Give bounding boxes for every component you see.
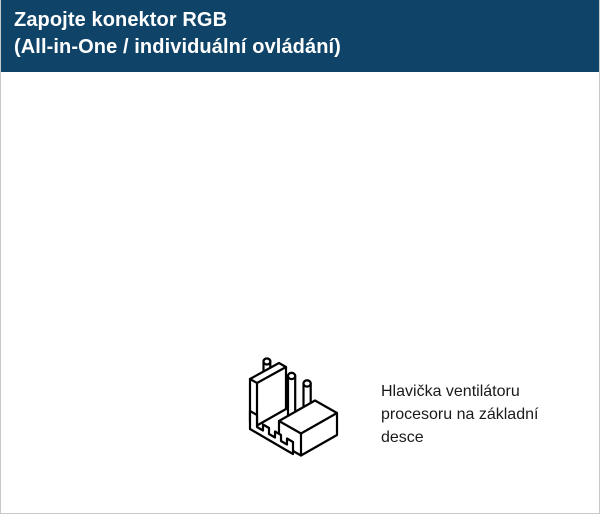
illustration-area: Hlavička ventilátoru procesoru na základ… bbox=[1, 72, 599, 513]
caption-line-2: procesoru na základní bbox=[381, 403, 586, 426]
connector-line-art bbox=[239, 349, 343, 464]
caption-line-1: Hlavička ventilátoru bbox=[381, 380, 586, 403]
step-title-line-2: (All-in-One / individuální ovládání) bbox=[14, 37, 341, 57]
cpu-fan-header-connector-icon bbox=[239, 349, 343, 464]
step-title-line-1: Zapojte konektor RGB bbox=[14, 10, 227, 30]
step-title-banner: Zapojte konektor RGB (All-in-One / indiv… bbox=[0, 0, 600, 72]
instruction-page: Zapojte konektor RGB (All-in-One / indiv… bbox=[0, 0, 600, 514]
caption-line-3: desce bbox=[381, 426, 586, 449]
connector-caption: Hlavička ventilátoru procesoru na základ… bbox=[381, 380, 586, 449]
